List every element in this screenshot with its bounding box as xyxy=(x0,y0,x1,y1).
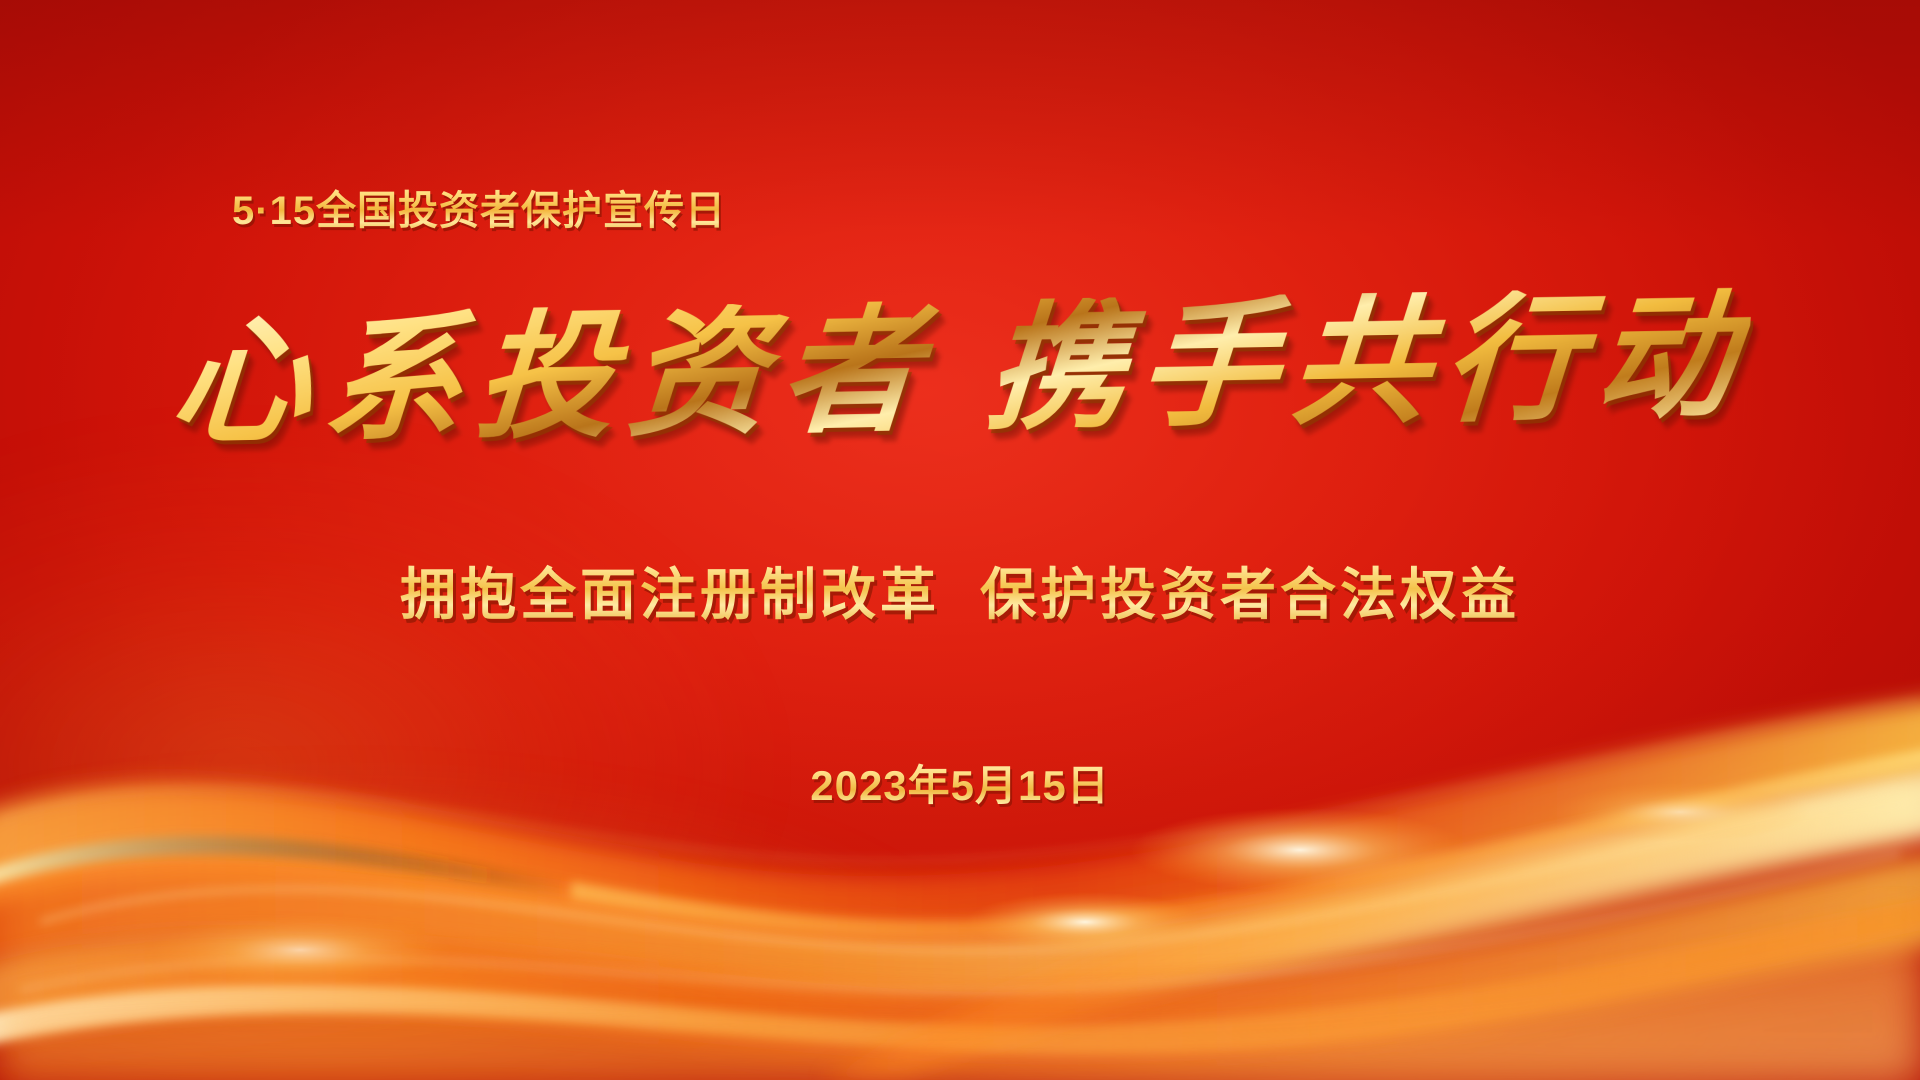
main-slogan-part-2: 携手共行动 xyxy=(981,273,1753,449)
headline-block: 心系投资者携手共行动 xyxy=(0,300,1920,438)
sub-slogan-part-1: 拥抱全面注册制改革 xyxy=(400,563,940,626)
sub-slogan-part-2: 保护投资者合法权益 xyxy=(980,563,1520,626)
slogan-spacer xyxy=(930,417,984,418)
event-date-label: 2023年5月15日 xyxy=(0,752,1920,813)
sub-slogan: 拥抱全面注册制改革保护投资者合法权益 xyxy=(0,550,1920,631)
banner-content: 5·15全国投资者保护宣传日 心系投资者携手共行动 拥抱全面注册制改革保护投资者… xyxy=(0,0,1920,1080)
main-slogan: 心系投资者携手共行动 xyxy=(167,286,1753,451)
banner-canvas: 5·15全国投资者保护宣传日 心系投资者携手共行动 拥抱全面注册制改革保护投资者… xyxy=(0,0,1920,1080)
event-name-label: 5·15全国投资者保护宣传日 xyxy=(232,178,726,236)
main-slogan-part-1: 心系投资者 xyxy=(166,287,938,463)
